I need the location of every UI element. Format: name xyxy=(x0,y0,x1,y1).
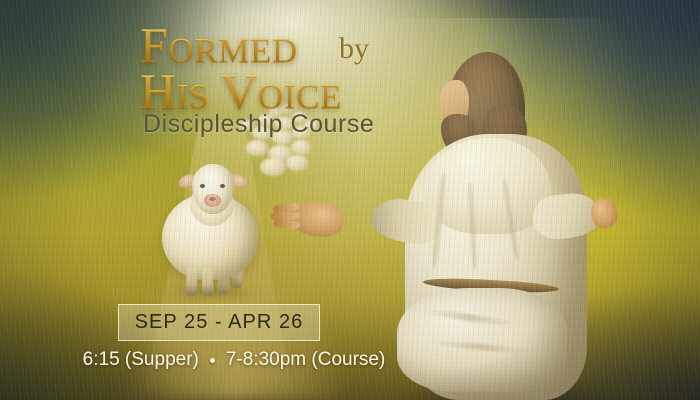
bullet-separator-icon xyxy=(210,358,215,363)
schedule-row: 6:15 (Supper) 7-8:30pm (Course) xyxy=(74,349,394,371)
date-range-badge: SEP 25 - APR 26 xyxy=(118,304,320,341)
supper-time: 6:15 (Supper) xyxy=(83,349,199,371)
course-time: 7-8:30pm (Course) xyxy=(226,349,385,371)
event-banner: Formed by His Voice Discipleship Course … xyxy=(0,0,700,400)
subtitle: Discipleship Course xyxy=(143,110,374,139)
date-range-text: SEP 25 - APR 26 xyxy=(135,311,304,334)
title-by-word: by xyxy=(339,32,369,66)
